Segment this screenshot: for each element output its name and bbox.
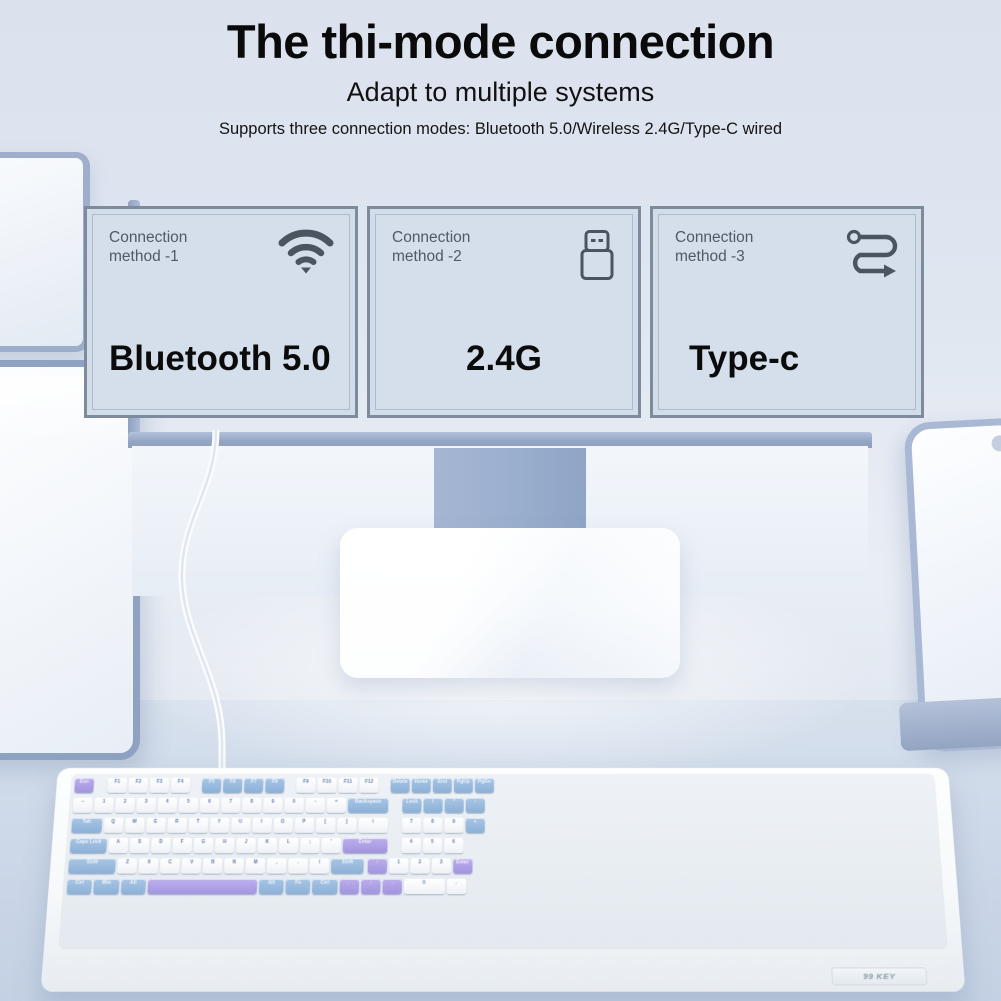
keyboard-key[interactable]: K	[257, 838, 277, 853]
keyboard-key[interactable]: Enter	[342, 838, 387, 853]
tablet-device-lower	[0, 360, 140, 760]
keyboard-key[interactable]	[147, 879, 257, 894]
keyboard-key[interactable]: B	[203, 858, 223, 873]
keyboard-key[interactable]: *	[445, 798, 464, 813]
product-photo-scene: EscF1F2F3F4F5F6F7F8F9F10F11F12DeleteHome…	[0, 0, 1001, 1001]
usb-cable	[120, 430, 280, 790]
keyboard-key[interactable]: PgDn	[475, 778, 494, 793]
keyboard-key[interactable]: Home	[412, 778, 431, 793]
keyboard-key[interactable]: 2	[410, 858, 430, 873]
keyboard-key[interactable]: Enter	[453, 858, 472, 873]
tablet-device-upper	[0, 152, 90, 352]
keyboard-key[interactable]: +	[466, 818, 485, 833]
connection-method-cards: Connection method -1 Bluetooth 5.0 Conne…	[84, 206, 924, 418]
keyboard-key[interactable]: Backspace	[348, 798, 389, 813]
keyboard-key[interactable]: 6	[444, 838, 463, 853]
keyboard-key[interactable]: 5	[178, 798, 198, 813]
keyboard-key[interactable]: F7	[244, 778, 264, 793]
keyboard-key[interactable]: O	[273, 818, 293, 833]
keyboard-key[interactable]: L	[278, 838, 298, 853]
keyboard-key[interactable]: Fn	[285, 879, 310, 894]
usb-dongle-icon	[577, 229, 617, 286]
keyboard-key[interactable]: F5	[202, 778, 222, 793]
keyboard-key[interactable]: =	[327, 798, 347, 813]
keyboard-key[interactable]: C	[160, 858, 180, 873]
keyboard-key[interactable]: F2	[128, 778, 148, 793]
keyboard-key[interactable]: T	[188, 818, 208, 833]
keyboard-key[interactable]: Shift	[331, 858, 364, 873]
keyboard-key[interactable]: /	[423, 798, 442, 813]
keyboard-key[interactable]: F10	[317, 778, 337, 793]
keyboard-key[interactable]: 3	[432, 858, 451, 873]
keyboard-key[interactable]: Y	[209, 818, 229, 833]
keyboard-key[interactable]: F11	[338, 778, 357, 793]
keyboard-key[interactable]: F8	[265, 778, 285, 793]
keyboard-key[interactable]: Alt	[259, 879, 284, 894]
keyboard-keys-area: EscF1F2F3F4F5F6F7F8F9F10F11F12DeleteHome…	[58, 774, 948, 949]
keyboard-key[interactable]: ,	[267, 858, 287, 873]
keyboard-key[interactable]: M	[246, 858, 266, 873]
keyboard-key[interactable]: 4	[157, 798, 177, 813]
keyboard-key[interactable]: 0	[284, 798, 304, 813]
keyboard-key[interactable]: 1	[389, 858, 409, 873]
keyboard-model-badge: 99 KEY	[831, 967, 928, 985]
keyboard-key[interactable]: ↓	[361, 879, 381, 894]
keyboard-key[interactable]: .	[446, 879, 466, 894]
keyboard-key[interactable]: Ctrl	[67, 879, 93, 894]
keyboard-key[interactable]: 7	[221, 798, 241, 813]
keyboard-key[interactable]: G	[193, 838, 213, 853]
connection-card-3: Connection method -3 Type-c	[650, 206, 924, 418]
keyboard-key[interactable]: 1	[94, 798, 114, 813]
page-subtitle: Adapt to multiple systems	[0, 78, 1001, 108]
cable-route-icon	[846, 229, 900, 284]
keyboard-key[interactable]: End	[433, 778, 452, 793]
keyboard-key[interactable]: -	[305, 798, 325, 813]
keyboard-key[interactable]: Caps Lock	[70, 838, 107, 853]
keyboard-key[interactable]: Ctrl	[312, 879, 337, 894]
keyboard-key[interactable]: PgUp	[454, 778, 473, 793]
keyboard-key[interactable]: F6	[223, 778, 243, 793]
keyboard-key[interactable]: Delete	[391, 778, 410, 793]
keyboard-key[interactable]: D	[151, 838, 171, 853]
monitor-stand-base	[340, 528, 680, 678]
card-2-value: 2.4G	[392, 340, 616, 377]
keyboard-key[interactable]: .	[288, 858, 308, 873]
mechanical-keyboard: EscF1F2F3F4F5F6F7F8F9F10F11F12DeleteHome…	[40, 768, 965, 992]
keyboard-key[interactable]: [	[315, 818, 335, 833]
supports-line: Supports three connection modes: Bluetoo…	[0, 120, 1001, 139]
keyboard-key[interactable]: Win	[93, 879, 119, 894]
keyboard-key[interactable]: X	[139, 858, 159, 873]
keyboard-key[interactable]: 8	[242, 798, 262, 813]
keyboard-key[interactable]: -	[466, 798, 485, 813]
keyboard-key[interactable]: Z	[117, 858, 137, 873]
keyboard-key[interactable]: 8	[423, 818, 442, 833]
keyboard-key[interactable]: 7	[402, 818, 421, 833]
keyboard-key[interactable]: ;	[300, 838, 320, 853]
keyboard-key[interactable]: J	[236, 838, 256, 853]
keyboard-key[interactable]: E	[145, 818, 165, 833]
keyboard-key[interactable]: 3	[136, 798, 156, 813]
keyboard-key[interactable]: P	[294, 818, 314, 833]
keyboard-key[interactable]: Q	[103, 818, 123, 833]
keyboard-key[interactable]: F12	[359, 778, 378, 793]
keyboard-key[interactable]: 9	[444, 818, 463, 833]
keyboard-key[interactable]: V	[181, 858, 201, 873]
connection-card-1: Connection method -1 Bluetooth 5.0	[84, 206, 358, 418]
keyboard-key[interactable]: F1	[107, 778, 127, 793]
keyboard-key[interactable]: 6	[200, 798, 220, 813]
keyboard-key[interactable]: ←	[339, 879, 359, 894]
keyboard-key[interactable]: Alt	[120, 879, 146, 894]
keyboard-key[interactable]: /	[310, 858, 330, 873]
connection-card-2: Connection method -2 2.4G	[367, 206, 641, 418]
keyboard-key[interactable]: F9	[296, 778, 316, 793]
keyboard-key[interactable]: N	[224, 858, 244, 873]
marketing-heading-block: The thi-mode connection Adapt to multipl…	[0, 0, 1001, 139]
keyboard-key[interactable]: ↑	[367, 858, 387, 873]
keyboard-key[interactable]: U	[230, 818, 250, 833]
keyboard-key[interactable]: 2	[115, 798, 135, 813]
card-3-value: Type-c	[675, 340, 899, 377]
phone-stand	[899, 697, 1001, 751]
keyboard-key[interactable]: 9	[263, 798, 283, 813]
keyboard-key[interactable]: F3	[149, 778, 169, 793]
wifi-icon	[278, 229, 334, 280]
keyboard-key[interactable]: H	[215, 838, 235, 853]
keyboard-key[interactable]: F4	[171, 778, 191, 793]
page-title: The thi-mode connection	[0, 16, 1001, 68]
keyboard-key[interactable]: A	[108, 838, 128, 853]
keyboard-key[interactable]: I	[252, 818, 272, 833]
keyboard-key[interactable]: 4	[402, 838, 422, 853]
keyboard-key[interactable]: Shift	[68, 858, 116, 873]
keyboard-key[interactable]: F	[172, 838, 192, 853]
keyboard-key[interactable]: '	[321, 838, 341, 853]
keyboard-key[interactable]: Esc	[74, 778, 94, 793]
keyboard-key[interactable]: ~	[73, 798, 93, 813]
keyboard-key[interactable]: 5	[423, 838, 442, 853]
keyboard-key[interactable]: R	[167, 818, 187, 833]
keyboard-key[interactable]: Lock	[402, 798, 421, 813]
keyboard-key[interactable]: W	[124, 818, 144, 833]
keyboard-key[interactable]: ]	[337, 818, 357, 833]
keyboard-key[interactable]: \	[358, 818, 388, 833]
keyboard-key[interactable]: S	[129, 838, 149, 853]
keyboard-key[interactable]: 0	[404, 879, 445, 894]
keyboard-key[interactable]: Tab	[71, 818, 102, 833]
phone-camera-icon	[991, 435, 1001, 452]
card-1-value: Bluetooth 5.0	[109, 340, 333, 377]
keyboard-key[interactable]: →	[382, 879, 402, 894]
